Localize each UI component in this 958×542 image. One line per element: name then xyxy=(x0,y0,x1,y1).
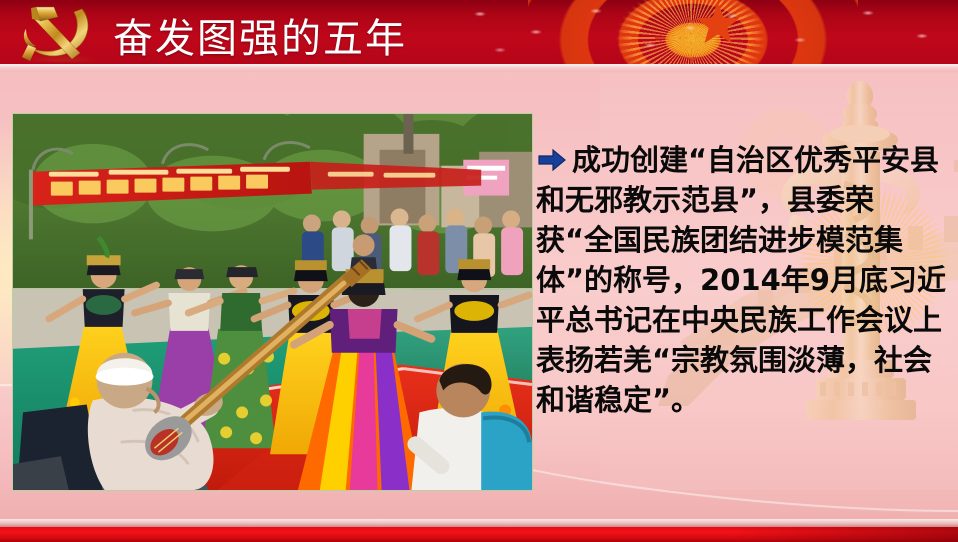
content-paragraph: 成功创建“自治区优秀平安县和无邪教示范县”，县委荣获“全国民族团结进步模范集体”… xyxy=(536,140,950,420)
bullet-paragraph-row: 成功创建“自治区优秀平安县和无邪教示范县”，县委荣获“全国民族团结进步模范集体”… xyxy=(536,140,950,420)
slide-root: 奋发图强的五年 xyxy=(0,0,958,542)
content-photo xyxy=(12,113,533,491)
footer-gloss-shelf xyxy=(0,519,958,527)
header-gloss-shelf xyxy=(0,64,958,74)
right-arrow-bullet-icon xyxy=(538,149,566,171)
footer-red-bar xyxy=(0,527,958,542)
emblem-reflection xyxy=(22,53,100,62)
content-text-block: 成功创建“自治区优秀平安县和无邪教示范县”，县委荣获“全国民族团结进步模范集体”… xyxy=(536,140,950,420)
page-title: 奋发图强的五年 xyxy=(113,6,407,64)
